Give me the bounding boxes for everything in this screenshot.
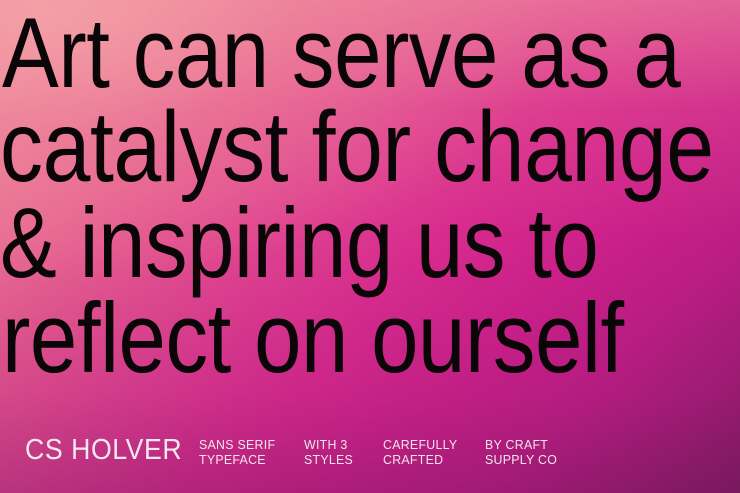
meta-column-with-3-styles: WITH 3 STYLES: [304, 437, 353, 467]
headline-line-2: catalyst for change: [0, 99, 636, 196]
headline-line-4: reflect on ourself: [2, 289, 637, 386]
meta-line: CAREFULLY: [383, 437, 457, 452]
meta-line: BY CRAFT: [485, 437, 557, 452]
headline-line-3: & inspiring us to: [0, 194, 636, 291]
headline-block: Art can serve as a catalyst for change &…: [0, 0, 740, 386]
brand-name: CS HOLVER: [25, 435, 182, 465]
meta-line: SANS SERIF: [199, 437, 275, 452]
meta-line: TYPEFACE: [199, 452, 275, 467]
meta-line: WITH 3: [304, 437, 353, 452]
meta-column-by-craft-supply-co: BY CRAFT SUPPLY CO: [485, 437, 557, 467]
meta-column-carefully-crafted: CAREFULLY CRAFTED: [383, 437, 457, 467]
meta-line: SUPPLY CO: [485, 452, 557, 467]
meta-line: CRAFTED: [383, 452, 457, 467]
meta-line: STYLES: [304, 452, 353, 467]
footer-bar: CS HOLVER SANS SERIF TYPEFACE WITH 3 STY…: [0, 415, 740, 493]
meta-column-sans-serif-typeface: SANS SERIF TYPEFACE: [199, 437, 275, 467]
font-specimen-poster: Art can serve as a catalyst for change &…: [0, 0, 740, 493]
headline-line-1: Art can serve as a: [2, 4, 637, 101]
